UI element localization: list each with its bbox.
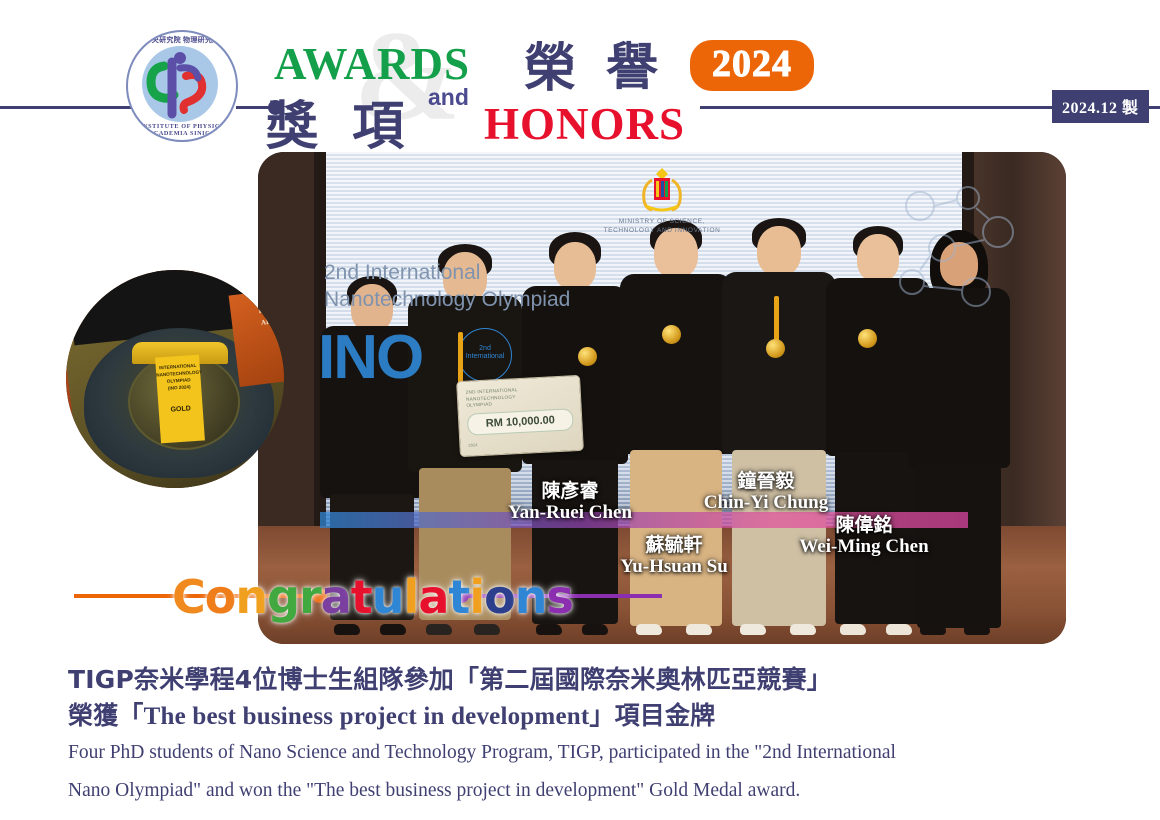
body-line-2: Nano Olympiad" and won the "The best bus… [68,772,1128,810]
congrats-letter: l [404,570,419,624]
ministry-text: MINISTRY OF SCIENCE, TECHNOLOGY AND INNO… [604,218,721,236]
oversized-cheque: 2ND INTERNATIONAL NANOTECHNOLOGY OLYMPIA… [456,375,584,457]
name-en-4: Wei-Ming Chen [774,536,954,558]
card-line-1: INTER [258,304,281,315]
cheque-header-line-3: OLYMPIAD [466,402,492,408]
header-rule-left [0,106,146,109]
molecule-graphic-icon [880,174,1030,334]
medal-icon-1 [578,347,597,366]
congrats-letter: o [484,570,515,624]
event-anniversary-badge: 2nd International [458,328,512,382]
date-badge: 2024.12 製 [1052,90,1149,123]
name-en-3: Chin-Yi Chung [676,492,856,514]
headline-line-1: TIGP奈米學程4位博士生組隊參加「第二屆國際奈米奧林匹亞競賽」 [68,662,1118,698]
medal-ribbon: INTERNATIONAL NANOTECHNOLOGY OLYMPIAD (I… [155,355,205,444]
congrats-letter: n [235,570,267,624]
ribbon-line-3: OLYMPIAD [167,377,191,384]
medal-icon-4 [858,329,877,348]
medal-icon-2 [662,325,681,344]
body-line-1: Four PhD students of Nano Science and Te… [68,734,1128,772]
congrats-letter: t [351,570,372,624]
medal-icon-3 [766,339,785,358]
medal-grade-text: GOLD [159,404,203,414]
congrats-letter: r [299,570,321,624]
congrats-letter: i [469,570,484,624]
card-line-2: AL DA [260,316,282,327]
name-cn-1: 陳彥睿 [490,480,650,502]
congrats-letter: u [372,570,404,624]
title-chinese-awards: 獎 項 [266,84,412,159]
cheque-footer: 2024 [468,437,574,451]
event-title-line-1: 2nd International [324,261,480,284]
event-badge-line-2: International [466,353,505,360]
title-block: & AWARDS 榮 譽 2024 獎 項 and HONORS [262,22,962,140]
cheque-header: 2ND INTERNATIONAL NANOTECHNOLOGY OLYMPIA… [466,384,573,412]
congratulations-banner: Congratulations [60,572,1060,620]
name-caption-3: 鐘晉毅 Chin-Yi Chung [676,470,856,514]
congrats-letter: n [515,570,547,624]
congrats-letter: a [321,570,351,624]
title-awards: AWARDS [274,38,470,90]
congrats-letter: a [418,570,448,624]
logo-arc-bottom-text: INSTITUTE OF PHYSICS ACADEMIA SINICA [128,123,236,137]
event-badge-line-1: 2nd [479,345,491,352]
page-header: 中央研究院 物理研究所 INSTITUTE OF PHYSICS ACADEMI… [0,0,1160,148]
malaysia-crest-icon [634,164,690,218]
congrats-letter: C [172,570,205,624]
event-logo-text: INO [318,322,422,393]
congrats-letter: s [547,570,573,624]
article-headline: TIGP奈米學程4位博士生組隊參加「第二屆國際奈米奧林匹亞競賽」 榮獲「The … [68,662,1118,734]
name-caption-4: 陳偉銘 Wei-Ming Chen [774,514,954,558]
event-title-on-backdrop: 2nd International Nanotechnology Olympia… [324,260,570,314]
ribbon-line-4: (INO 2024) [168,384,191,391]
title-and: and [428,84,469,111]
congrats-letter: o [205,570,236,624]
name-en-1: Yan-Ruei Chen [490,502,650,524]
name-cn-3: 鐘晉毅 [676,470,856,492]
ministry-line-1: MINISTRY OF SCIENCE, [619,218,705,225]
name-cn-4: 陳偉銘 [774,514,954,536]
congrats-letter: g [267,570,299,624]
congratulations-word: Congratulations [172,570,573,624]
medal-ribbon-text: INTERNATIONAL NANOTECHNOLOGY OLYMPIAD (I… [156,363,202,394]
headline-line-2-pre: 榮獲「 [68,701,144,730]
headline-line-2-post: 」項目金牌 [589,701,715,730]
medal-inset-photo: INTERNATIONAL NANOTECHNOLOGY OLYMPIAD (I… [66,270,284,488]
institute-logo: 中央研究院 物理研究所 INSTITUTE OF PHYSICS ACADEMI… [126,30,238,142]
headline-line-2: 榮獲「The best business project in developm… [68,698,1118,735]
ribbon-line-2: NANOTECHNOLOGY [156,369,202,377]
year-badge: 2024 [690,40,814,91]
cheque-header-line-2: NANOTECHNOLOGY [466,394,516,402]
cheque-amount: RM 10,000.00 [467,408,574,436]
headline-line-2-latin: The best business project in development [144,703,590,730]
year-badge-text: 2024 [712,43,792,85]
name-cn-2: 蘇毓軒 [594,534,754,556]
event-title-line-2: Nanotechnology Olympiad [324,288,570,311]
title-chinese-honor: 榮 譽 [524,26,664,101]
article-body: Four PhD students of Nano Science and Te… [68,734,1128,810]
logo-arc-top-text: 中央研究院 物理研究所 [128,35,236,45]
congrats-letter: t [448,570,469,624]
name-caption-1: 陳彥睿 Yan-Ruei Chen [490,480,650,524]
title-honors: HONORS [484,98,685,150]
ministry-line-2: TECHNOLOGY AND INNOVATION [604,227,721,234]
